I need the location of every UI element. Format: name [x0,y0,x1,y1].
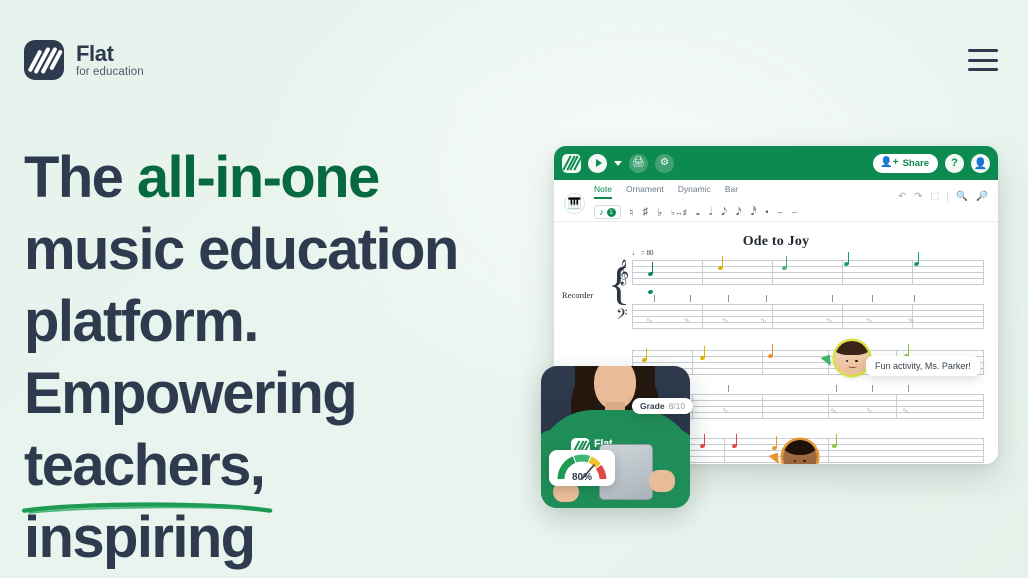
help-circle-icon[interactable]: ? [945,154,964,173]
headline-accent: all-in-one [137,145,379,210]
flat-icon[interactable]: ♭ [657,206,662,219]
brush-underline-icon [22,502,272,515]
half-note-icon[interactable]: 𝅗𝅥 [709,206,712,219]
accidental-toggle-icon[interactable]: ♭↔♯ [671,208,687,217]
brand-name: Flat [76,42,144,65]
redo-icon[interactable]: ↷ [914,191,922,202]
staff-tab-1: 𝄢 ∿ ∿ ∿ ∿ ∿ ∿ ∿ [632,304,998,330]
brand-logo[interactable]: Flat for education [24,40,144,80]
avatar-face [783,440,817,464]
zoom-out-icon[interactable]: 🔎 [976,191,988,202]
grade-value: 8/10 [669,401,686,411]
dash-icon[interactable]: – [778,207,783,217]
grade-badge: Grade 8/10 [632,398,693,414]
site-header: Flat for education [0,0,1028,120]
natural-icon[interactable]: ♮ [630,206,634,219]
brand-tagline: for education [76,66,144,78]
user-avatar-icon[interactable]: 👤 [971,154,990,173]
instrument-label: Recorder [562,290,593,300]
headline-underlined-students: students. [24,574,267,578]
score-gauge-badge: 80% [549,450,615,486]
flat-stripes-logo-icon [24,40,64,80]
sharp-icon[interactable]: ♯ [642,206,648,218]
tab-bar[interactable]: Bar [725,184,738,199]
dot-icon[interactable]: • [765,207,768,217]
share-label: Share [903,158,929,169]
app-ribbon: 🎹 Note Ornament Dynamic Bar ♪1 ♮ ♯ ♭ ♭↔♯… [554,180,998,222]
gauge-icon [556,454,608,481]
whole-note-icon[interactable]: 𝅝 [696,207,700,218]
chevron-down-icon[interactable] [614,161,622,166]
share-button[interactable]: 👤+ Share [873,154,938,173]
page-title: The all-in-one music education platform.… [24,142,504,578]
tab-dynamic[interactable]: Dynamic [678,184,711,199]
student-avatar-1[interactable] [835,341,869,375]
comment-bubble[interactable]: Fun activity, Ms. Parker! [866,356,980,376]
photo-hand-right [649,470,675,492]
eighth-note-icon[interactable]: 𝅘𝅥𝅯 [736,206,742,219]
tie-icon[interactable]: ⌣ [792,207,798,218]
undo-icon[interactable]: ↶ [898,191,906,202]
sixteenth-note-icon[interactable]: 𝅘𝅥𝅰 [751,206,757,219]
staff-treble [632,260,998,286]
headline-part-1: The [24,145,137,210]
bass-clef-icon: 𝄢 [616,306,628,328]
flat-app-logo-icon[interactable] [562,154,581,173]
copy-icon[interactable]: ⬚ [930,191,939,202]
headline-part-2: music education [24,217,458,282]
grade-label: Grade [640,401,665,411]
print-icon[interactable]: 🖨 [629,154,648,173]
headline-underlined-teachers: teachers, [24,430,264,502]
zoom-in-icon[interactable]: 🔍 [956,191,968,202]
headline-part-4: Empowering [24,361,356,426]
photo-arm-right [660,430,690,508]
gear-icon[interactable]: ⚙ [655,154,674,173]
hero-heading: The all-in-one music education platform.… [24,142,504,578]
avatar-face [835,341,869,375]
brand-text: Flat for education [76,42,144,78]
tab-note[interactable]: Note [594,184,612,199]
quarter-note-icon[interactable]: 𝅘𝅥𝅮 [721,206,727,219]
ribbon-tool-row: ♪1 ♮ ♯ ♭ ♭↔♯ 𝅝 𝅗𝅥 𝅘𝅥𝅮 𝅘𝅥𝅯 𝅘𝅥𝅰 • – ⌣ [594,205,988,219]
play-icon[interactable] [588,154,607,173]
tempo-marking: ♩ = 80 [632,249,653,257]
divider [947,192,948,202]
score-title: Ode to Joy [554,234,998,250]
app-toolbar: 🖨 ⚙ 👤+ Share ? 👤 [554,146,998,180]
headline-part-3: platform. [24,289,258,354]
piano-keys-icon[interactable]: 🎹 [564,193,585,214]
student-avatar-2[interactable] [783,440,817,464]
score-system-1: Recorder { ♩ = 80 𝄞 [554,260,998,330]
tab-ornament[interactable]: Ornament [626,184,664,199]
person-add-icon: 👤+ [880,158,898,168]
treble-clef-icon: 𝄞 [616,262,629,284]
teacher-photo: Flat for Education [541,366,690,508]
hamburger-menu-icon[interactable] [968,49,998,71]
ribbon-actions: ↶ ↷ ⬚ 🔍 🔎 [898,191,988,202]
note-duration-chip[interactable]: ♪1 [594,205,621,219]
